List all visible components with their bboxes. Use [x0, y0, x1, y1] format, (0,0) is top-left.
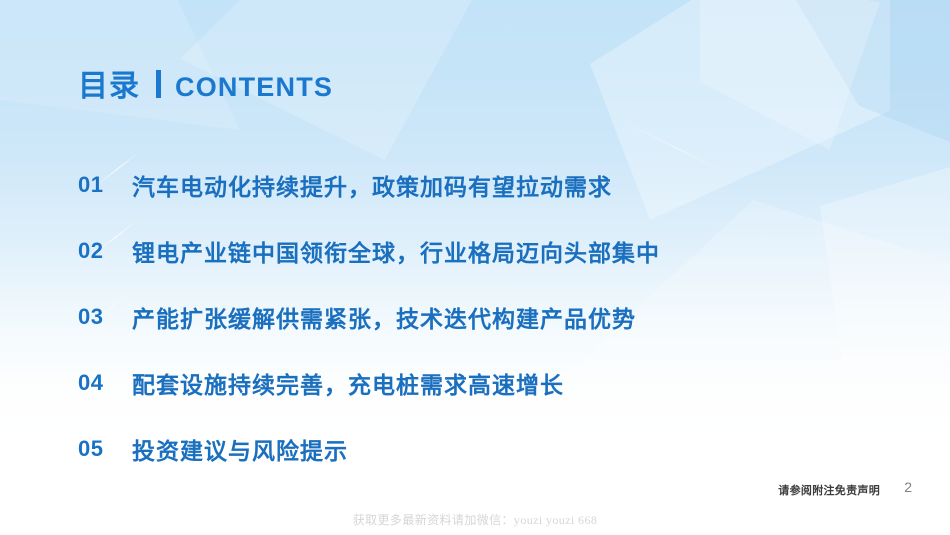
- toc-number: 05: [78, 436, 132, 462]
- toc-label: 配套设施持续完善，充电桩需求高速增长: [132, 366, 564, 400]
- disclaimer-note: 请参阅附注免责声明: [778, 482, 880, 498]
- toc-number: 04: [78, 370, 132, 396]
- table-of-contents: 01 汽车电动化持续提升，政策加码有望拉动需求 02 锂电产业链中国领衔全球，行…: [78, 152, 878, 482]
- toc-number: 01: [78, 172, 132, 198]
- toc-label: 产能扩张缓解供需紧张，技术迭代构建产品优势: [132, 300, 636, 334]
- slide-canvas: 目录 CONTENTS 01 汽车电动化持续提升，政策加码有望拉动需求 02 锂…: [0, 0, 950, 535]
- page-title-cn: 目录: [78, 72, 140, 102]
- watermark-text: 获取更多最新资料请加微信：youzi youzi 668: [0, 511, 950, 528]
- toc-label: 汽车电动化持续提升，政策加码有望拉动需求: [132, 168, 612, 202]
- toc-entry-05[interactable]: 05 投资建议与风险提示: [78, 416, 878, 482]
- page-title-en: CONTENTS: [175, 74, 333, 101]
- toc-entry-04[interactable]: 04 配套设施持续完善，充电桩需求高速增长: [78, 350, 878, 416]
- toc-entry-02[interactable]: 02 锂电产业链中国领衔全球，行业格局迈向头部集中: [78, 218, 878, 284]
- polygon-facet-3: [700, 0, 880, 150]
- toc-number: 02: [78, 238, 132, 264]
- toc-label: 投资建议与风险提示: [132, 432, 348, 466]
- page-number: 2: [904, 479, 912, 495]
- toc-entry-03[interactable]: 03 产能扩张缓解供需紧张，技术迭代构建产品优势: [78, 284, 878, 350]
- page-title: 目录 CONTENTS: [78, 68, 333, 102]
- polygon-facet-6: [0, 0, 240, 130]
- toc-entry-01[interactable]: 01 汽车电动化持续提升，政策加码有望拉动需求: [78, 152, 878, 218]
- polygon-facet-2: [760, 0, 950, 170]
- toc-label: 锂电产业链中国领衔全球，行业格局迈向头部集中: [132, 234, 660, 268]
- title-divider: [156, 70, 161, 98]
- toc-number: 03: [78, 304, 132, 330]
